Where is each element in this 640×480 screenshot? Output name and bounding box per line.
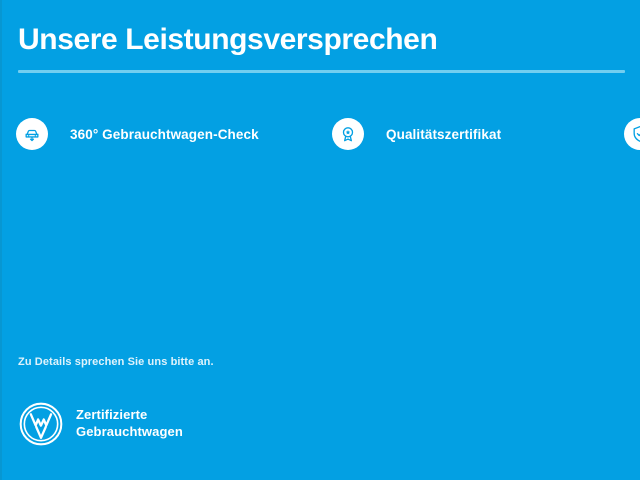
left-edge-stripe [0,0,2,480]
feature-grid: 360° Gebrauchtwagen-Check Qualitätszerti… [16,112,624,156]
feature-item-gebrauchtwagen-check: 360° Gebrauchtwagen-Check [16,112,332,156]
volkswagen-roundel-icon [18,401,64,447]
brand-line-1: Zertifizierte [76,407,147,422]
brand-text: Zertifizierte Gebrauchtwagen [76,407,183,440]
feature-item-qualitaetszertifikat: Qualitätszertifikat [332,112,624,156]
footnote-text: Zu Details sprechen Sie uns bitte an. [18,356,214,368]
brand-line-2: Gebrauchtwagen [76,424,183,439]
feature-label: Qualitätszertifikat [386,127,501,142]
title-divider [18,70,625,73]
feature-label: 360° Gebrauchtwagen-Check [70,127,259,142]
page-title: Unsere Leistungsversprechen [18,24,626,56]
shield-check-icon [624,118,640,150]
header: Unsere Leistungsversprechen [18,24,626,73]
brand-lockup: Zertifizierte Gebrauchtwagen [18,401,183,447]
car-inspection-icon [16,118,48,150]
feature-item-gebrauchtwagengarantie: Gebrauchtwagengarantie [624,112,640,156]
quality-seal-icon [332,118,364,150]
